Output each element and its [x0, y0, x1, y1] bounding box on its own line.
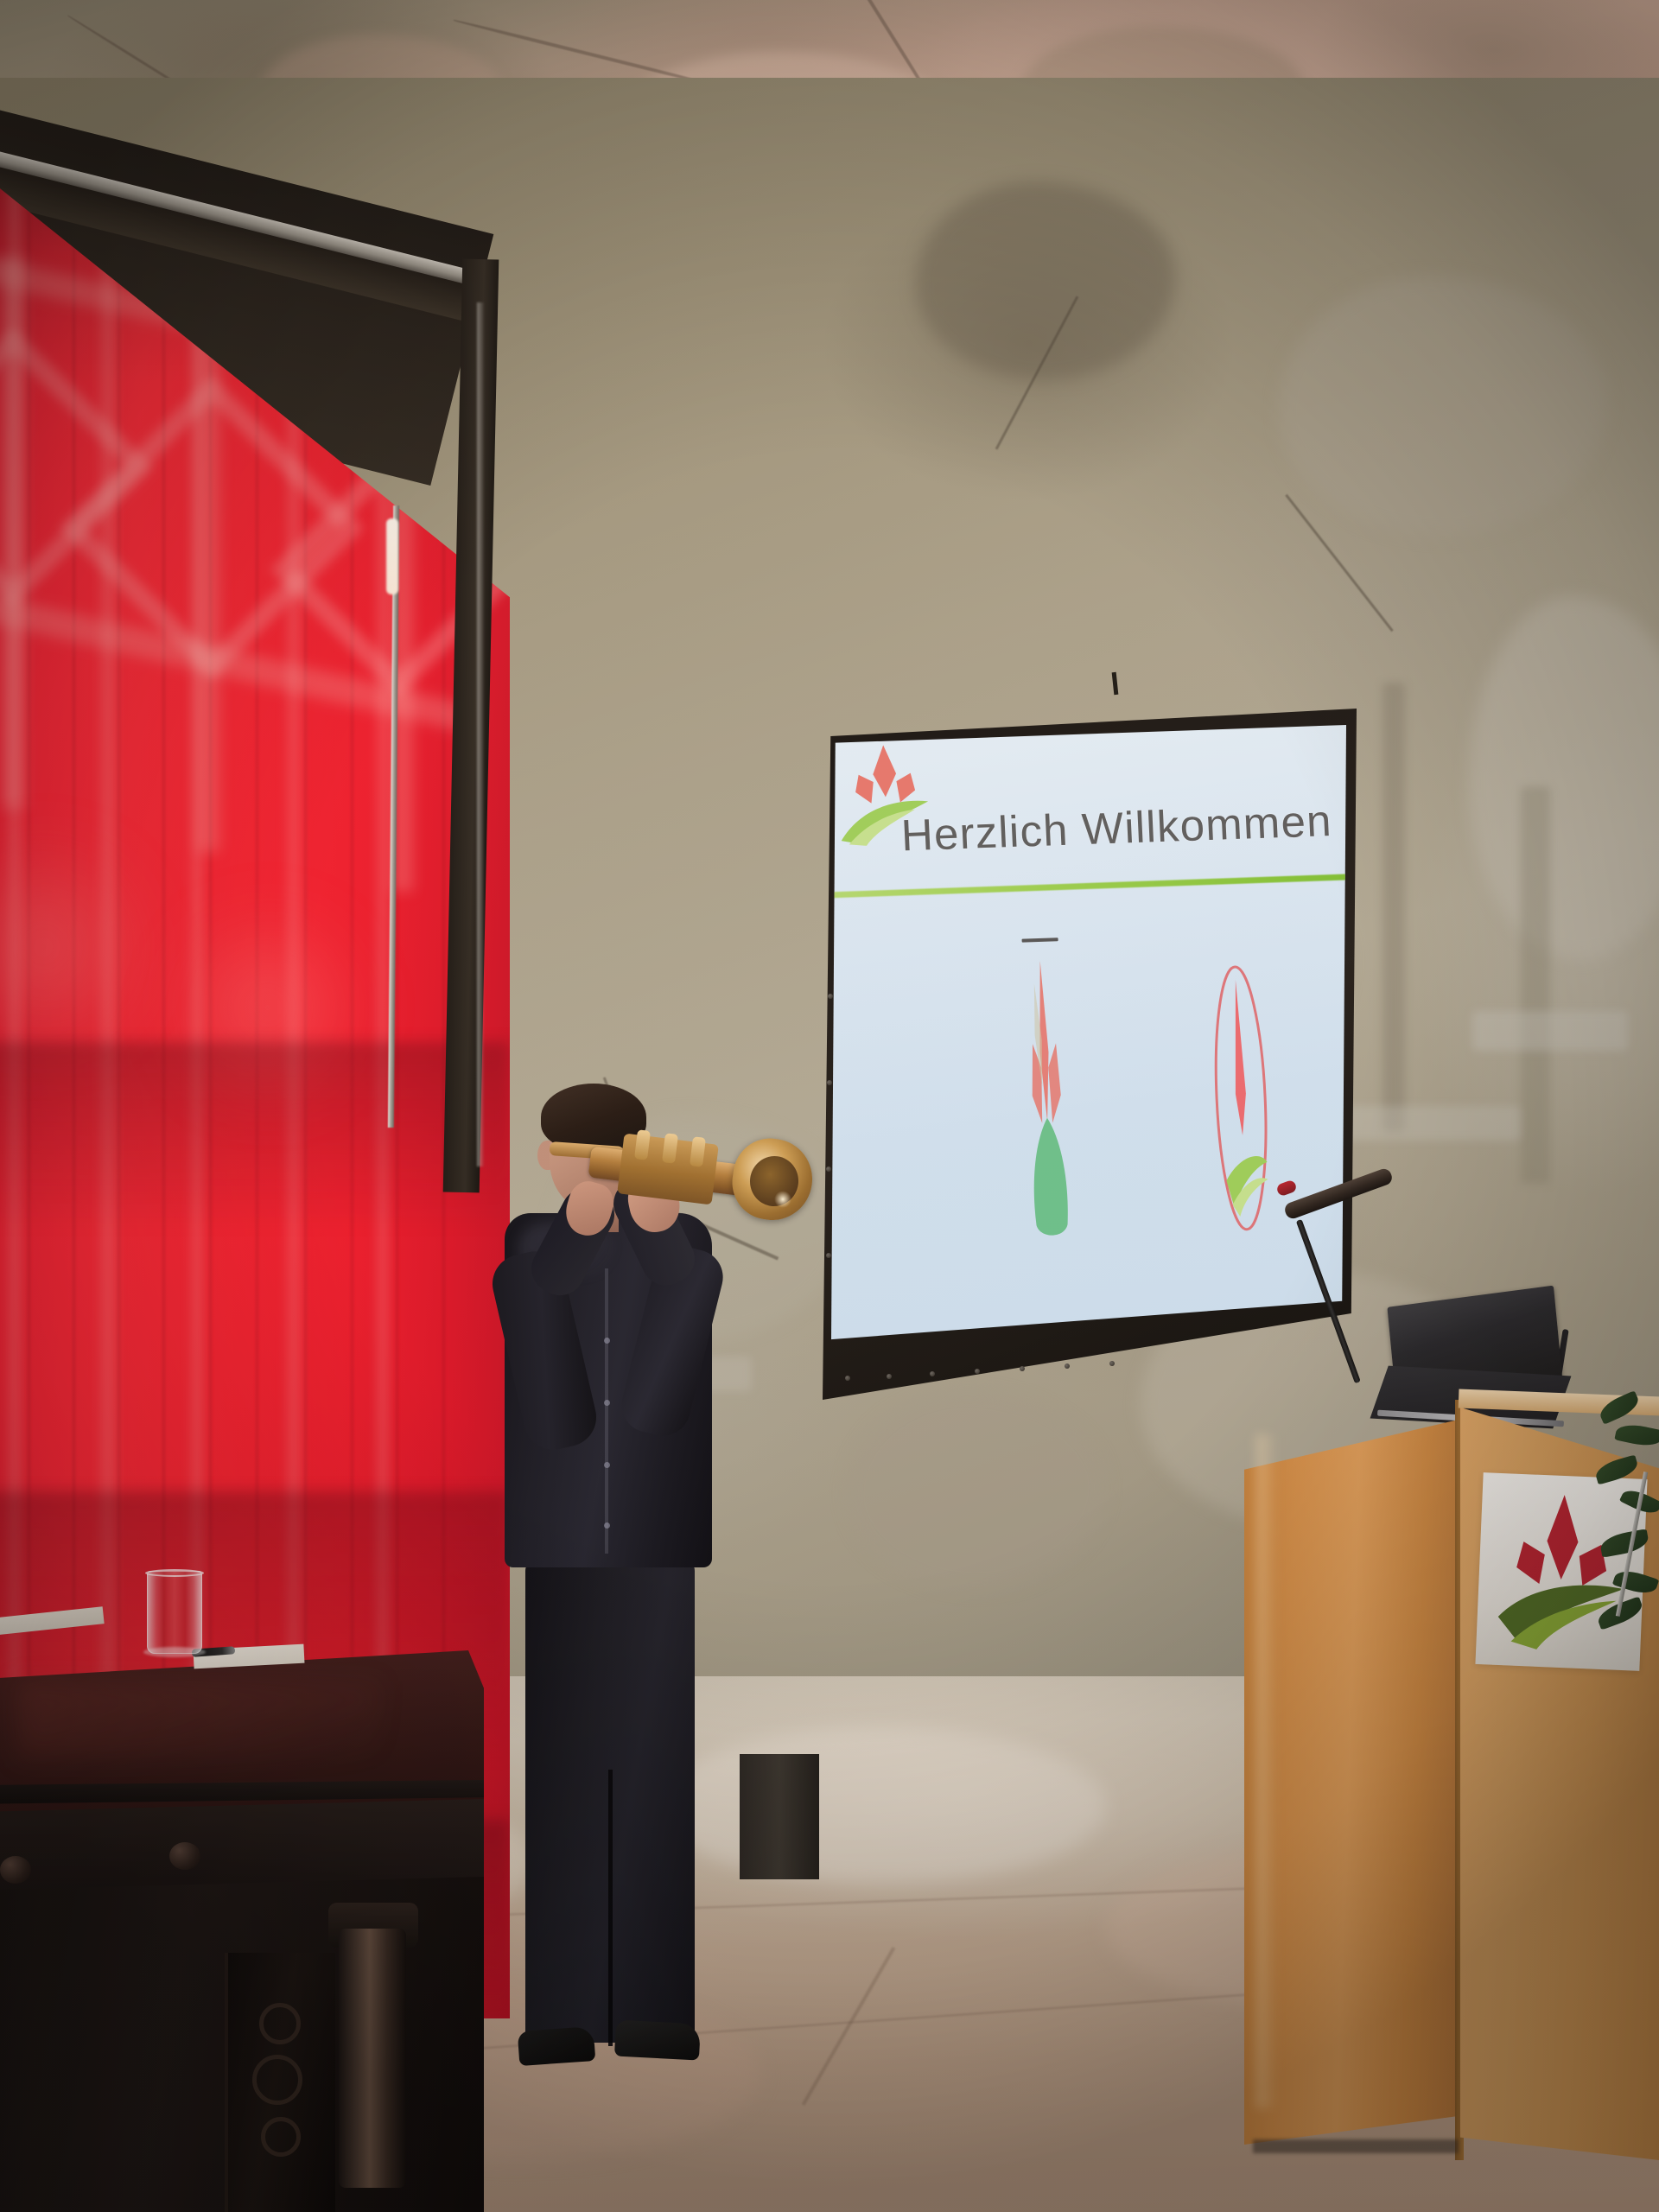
antique-carved-sideboard: [0, 1650, 501, 2212]
shirt-button: [604, 1462, 610, 1468]
shirt-button: [604, 1522, 610, 1529]
shoe-left: [518, 2026, 596, 2066]
slide-divider-line: [831, 874, 1346, 898]
sideboard-top-sheen: [17, 1681, 380, 1759]
stretched-logo-graphic-right: [1206, 963, 1275, 1233]
carved-door-panel: [225, 1953, 335, 2212]
water-glass-base: [143, 1647, 206, 1657]
drawer-knob[interactable]: [0, 1856, 31, 1884]
trumpet-player: [484, 1078, 778, 2141]
water-glass-rim: [145, 1569, 204, 1577]
podium-shadow: [1253, 2139, 1459, 2153]
slide-surface: Herzlich Willkommen: [831, 722, 1346, 1362]
stretched-logo-graphic-left: [1016, 957, 1077, 1243]
projection-screen[interactable]: Herzlich Willkommen: [823, 709, 1357, 1400]
water-glass: [147, 1571, 202, 1654]
photo-scene: Herzlich Willkommen: [0, 0, 1659, 2212]
potted-plant: [1595, 1381, 1659, 1649]
trouser-seam: [608, 1770, 613, 2046]
shirt-button: [604, 1400, 610, 1406]
slide-dash-mark: [1022, 938, 1058, 942]
shoe-right: [614, 2019, 701, 2060]
drawer-knob[interactable]: [169, 1842, 200, 1870]
shirt-placket: [605, 1268, 608, 1554]
sideboard-column: [339, 1929, 406, 2188]
window-jamb-highlight: [477, 302, 484, 1166]
podium-side-highlight: [1256, 1434, 1277, 2108]
slide-title: Herzlich Willkommen: [900, 795, 1334, 861]
window-light-strip: [386, 518, 398, 594]
trumpet-highlight: [774, 1191, 791, 1208]
shirt-button: [604, 1338, 610, 1344]
